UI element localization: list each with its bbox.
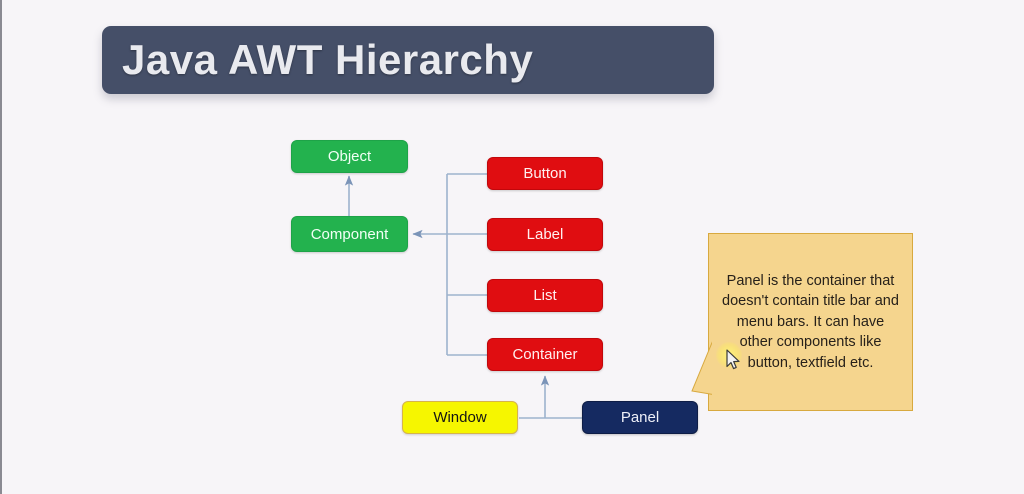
callout-tail xyxy=(690,333,716,395)
node-list[interactable]: List xyxy=(487,279,603,312)
node-component[interactable]: Component xyxy=(291,216,408,252)
node-object[interactable]: Object xyxy=(291,140,408,173)
mouse-cursor xyxy=(714,340,754,382)
node-list-label: List xyxy=(533,287,556,304)
node-window[interactable]: Window xyxy=(402,401,518,434)
node-button[interactable]: Button xyxy=(487,157,603,190)
node-object-label: Object xyxy=(328,148,371,165)
node-label[interactable]: Label xyxy=(487,218,603,251)
node-panel-label: Panel xyxy=(621,409,659,426)
node-label-label: Label xyxy=(527,226,564,243)
node-component-label: Component xyxy=(311,226,389,243)
node-container-label: Container xyxy=(512,346,577,363)
node-button-label: Button xyxy=(523,165,566,182)
callout-note-panel: Panel is the container that doesn't cont… xyxy=(708,233,913,411)
node-container[interactable]: Container xyxy=(487,338,603,371)
node-window-label: Window xyxy=(433,409,486,426)
screenshot-canvas: Java AWT Hierarchy Obje xyxy=(0,0,1024,494)
node-panel[interactable]: Panel xyxy=(582,401,698,434)
mouse-pointer-icon xyxy=(726,349,742,371)
